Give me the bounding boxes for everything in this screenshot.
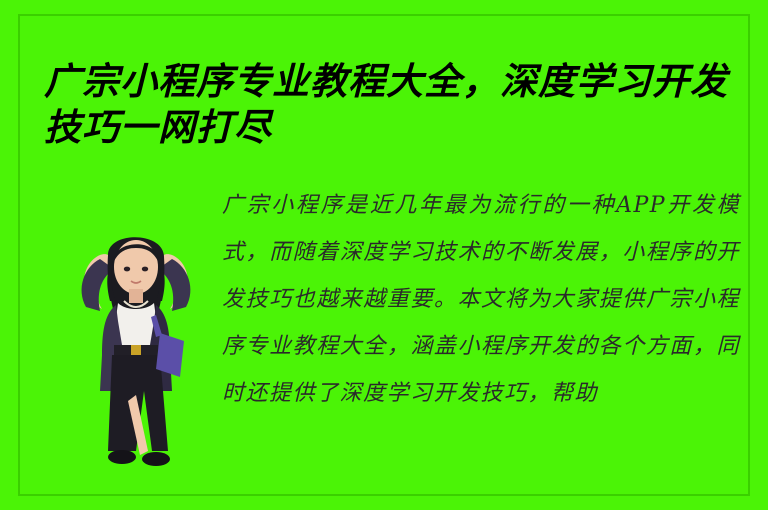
woman-illustration — [56, 215, 216, 477]
poster-canvas: 广宗小程序专业教程大全，深度学习开发技巧一网打尽 — [0, 0, 768, 510]
page-title: 广宗小程序专业教程大全，深度学习开发技巧一网打尽 — [44, 58, 734, 150]
body-paragraph: 广宗小程序是近几年最为流行的一种APP开发模式，而随着深度学习技术的不断发展，小… — [222, 182, 740, 417]
